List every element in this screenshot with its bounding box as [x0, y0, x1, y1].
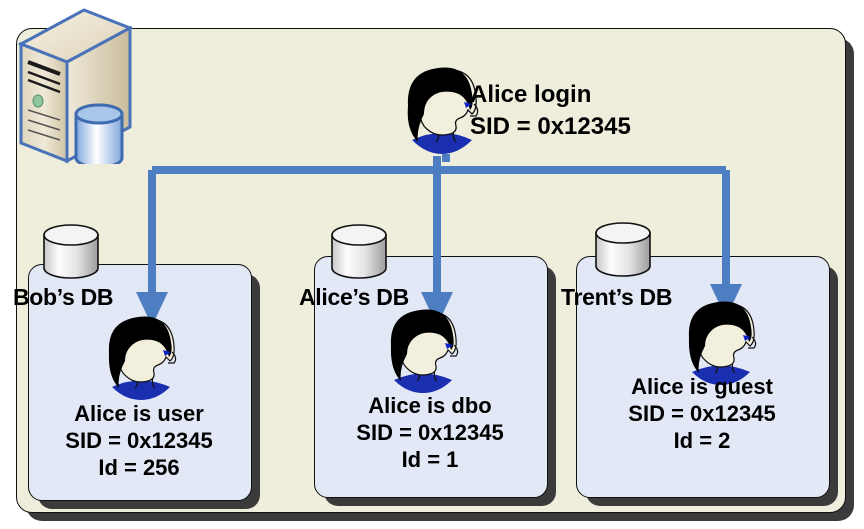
bobs-db-sid: SID = 0x12345 — [28, 427, 250, 454]
alices-db-caption: Alice is dbo SID = 0x12345 Id = 1 — [314, 392, 546, 473]
alices-db-uid: Id = 1 — [314, 446, 546, 473]
diagram-canvas: Bob’s DB Alice’s DB Trent’s DB — [0, 0, 864, 529]
bobs-db-caption: Alice is user SID = 0x12345 Id = 256 — [28, 400, 250, 481]
bobs-db-cylinder-icon — [40, 224, 102, 280]
trents-db-label: Trent’s DB — [561, 284, 672, 311]
alices-db-user-avatar-icon — [382, 308, 466, 400]
trents-db-sid: SID = 0x12345 — [576, 400, 828, 427]
trents-db-role: Alice is guest — [576, 373, 828, 400]
bobs-db-user-avatar-icon — [100, 315, 184, 407]
trents-db-uid: Id = 2 — [576, 427, 828, 454]
bobs-db-uid: Id = 256 — [28, 454, 250, 481]
alices-db-role: Alice is dbo — [314, 392, 546, 419]
alices-db-sid: SID = 0x12345 — [314, 419, 546, 446]
trents-db-cylinder-icon — [592, 222, 654, 278]
bobs-db-label: Bob’s DB — [13, 284, 113, 311]
alices-db-cylinder-icon — [328, 224, 390, 280]
alice-login-caption: Alice login SID = 0x12345 — [470, 79, 631, 143]
trents-db-caption: Alice is guest SID = 0x12345 Id = 2 — [576, 373, 828, 454]
alices-db-label: Alice’s DB — [299, 284, 409, 311]
server-tower-icon — [6, 6, 132, 164]
alice-login-sid: SID = 0x12345 — [470, 111, 631, 143]
alice-login-title: Alice login — [470, 79, 631, 111]
bobs-db-role: Alice is user — [28, 400, 250, 427]
